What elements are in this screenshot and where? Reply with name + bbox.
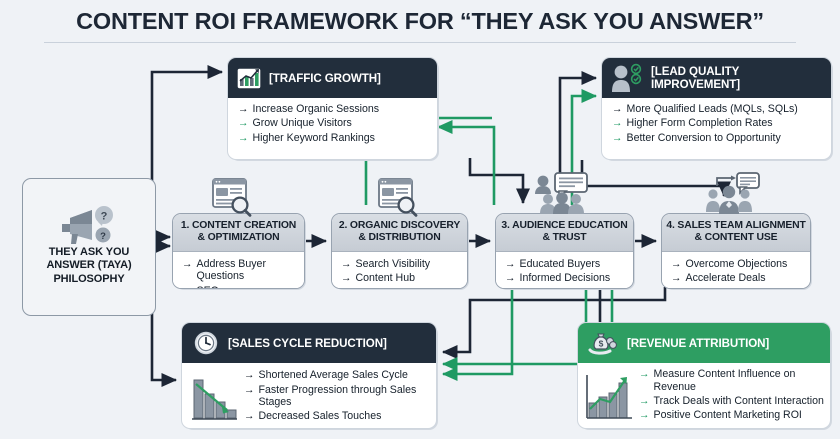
start-node-label: THEY ASK YOU ANSWER (TAYA) PHILOSOPHY — [27, 246, 151, 287]
arrow-icon: → — [639, 409, 650, 421]
bullet-text: Accelerate Deals — [686, 272, 766, 284]
bullet-text: Grow Unique Visitors — [253, 117, 352, 129]
process-step-2-bullets: → Search Visibility → Content Hub — [341, 258, 459, 285]
bullet-text: Shortened Average Sales Cycle — [259, 369, 408, 381]
arrow-icon: → — [612, 132, 623, 144]
list-item: → Content Hub — [341, 272, 459, 284]
bullet-text: Higher Keyword Rankings — [253, 132, 375, 144]
arrow-icon: → — [244, 384, 255, 396]
arrow-icon: → — [238, 103, 249, 115]
arrow-icon: → — [182, 285, 193, 289]
arrow-icon: → — [341, 272, 352, 284]
arrow-icon: → — [182, 258, 193, 270]
arrow-icon: → — [505, 258, 516, 270]
arrow-icon: → — [244, 369, 255, 381]
outcome-sales-cycle-reduction[interactable]: [SALES CYCLE REDUCTION] — [181, 322, 435, 427]
bullet-text: Content Hub — [356, 272, 415, 284]
list-item: → Grow Unique Visitors — [238, 117, 429, 129]
list-item: → Accelerate Deals — [671, 272, 802, 284]
outcome-revenue-attribution-bullets: → Measure Content Influence on Revenue →… — [639, 368, 824, 424]
list-item: → Informed Decisions — [505, 272, 625, 284]
arrow-icon: → — [238, 132, 249, 144]
bullet-text: Increase Organic Sessions — [253, 103, 380, 115]
process-step-4-title: 4. SALES TEAM ALIGNMENT & CONTENT USE — [662, 214, 810, 252]
bullet-text: Decreased Sales Touches — [259, 410, 382, 422]
list-item: → Decreased Sales Touches — [244, 410, 428, 422]
list-item: → Higher Form Completion Rates — [612, 117, 823, 129]
list-item: → Address Buyer Questions — [182, 258, 296, 283]
clock-icon — [194, 331, 218, 355]
audience-chat-icon — [533, 172, 595, 216]
bullet-text: Measure Content Influence on Revenue — [654, 368, 825, 393]
start-node-taya[interactable]: ? ? THEY ASK YOU ANSWER (TAYA) PHILOSOPH… — [22, 178, 146, 302]
svg-text:$: $ — [599, 339, 604, 349]
process-step-1-bullets: → Address Buyer Questions → SEO — [182, 258, 296, 289]
money-bag-hand-icon: $ — [588, 330, 618, 356]
rising-bar-chart-icon — [584, 367, 634, 425]
outcome-revenue-attribution-label: [REVENUE ATTRIBUTION] — [627, 337, 769, 350]
process-step-4[interactable]: 4. SALES TEAM ALIGNMENT & CONTENT USE → … — [661, 213, 809, 287]
bullet-text: Search Visibility — [356, 258, 431, 270]
svg-text:?: ? — [100, 231, 106, 242]
list-item: → Higher Keyword Rankings — [238, 132, 429, 144]
process-step-1[interactable]: 1. CONTENT CREATION & OPTIMIZATION → Add… — [172, 213, 303, 287]
list-item: → Educated Buyers — [505, 258, 625, 270]
outcome-traffic-growth-label: [TRAFFIC GROWTH] — [269, 72, 381, 85]
list-item: → Better Conversion to Opportunity — [612, 132, 823, 144]
outcome-revenue-attribution[interactable]: $ [REVENUE ATTRIBUTION] — [577, 322, 829, 427]
arrow-icon: → — [244, 410, 255, 422]
bar-chart-up-icon — [236, 66, 262, 90]
arrow-icon: → — [639, 395, 650, 407]
process-step-2[interactable]: 2. ORGANIC DISCOVERY & DISTRIBUTION → Se… — [331, 213, 466, 287]
process-step-1-title: 1. CONTENT CREATION & OPTIMIZATION — [173, 214, 304, 252]
process-step-2-title: 2. ORGANIC DISCOVERY & DISTRIBUTION — [332, 214, 467, 252]
document-search-icon — [211, 177, 253, 217]
outcome-sales-cycle-label: [SALES CYCLE REDUCTION] — [228, 337, 387, 350]
bullet-text: More Qualified Leads (MQLs, SQLs) — [627, 103, 798, 115]
bullet-text: Positive Content Marketing ROI — [654, 409, 802, 421]
sales-team-chat-icon — [703, 172, 765, 216]
list-item: → Positive Content Marketing ROI — [639, 409, 824, 421]
bullet-text: Higher Form Completion Rates — [627, 117, 773, 129]
list-item: → Shortened Average Sales Cycle — [244, 369, 428, 381]
process-step-3-title: 3. AUDIENCE EDUCATION & TRUST — [496, 214, 633, 252]
arrow-icon: → — [639, 368, 650, 380]
bullet-text: Educated Buyers — [520, 258, 601, 270]
diagram-canvas: CONTENT ROI FRAMEWORK FOR “THEY ASK YOU … — [0, 0, 840, 439]
list-item: → Overcome Objections — [671, 258, 802, 270]
list-item: → Measure Content Influence on Revenue — [639, 368, 824, 393]
bullet-text: Faster Progression through Sales Stages — [259, 384, 429, 409]
arrow-icon: → — [612, 103, 623, 115]
process-step-4-bullets: → Overcome Objections → Accelerate Deals — [671, 258, 802, 285]
bullet-text: SEO — [197, 285, 219, 289]
arrow-icon: → — [238, 117, 249, 129]
arrow-icon: → — [341, 258, 352, 270]
svg-text:?: ? — [101, 210, 108, 222]
outcome-traffic-growth-bullets: → Increase Organic Sessions → Grow Uniqu… — [238, 103, 429, 144]
bullet-text: Track Deals with Content Interaction — [654, 395, 824, 407]
outcome-lead-quality-improvement[interactable]: [LEAD QUALITY IMPROVEMENT] → More Qualif… — [601, 57, 830, 158]
arrow-icon: → — [505, 272, 516, 284]
declining-bar-chart-icon — [190, 368, 238, 426]
document-search-icon — [377, 177, 419, 217]
list-item: → Search Visibility — [341, 258, 459, 270]
person-checklist-icon — [610, 63, 644, 93]
bullet-text: Informed Decisions — [520, 272, 611, 284]
outcome-lead-quality-label: [LEAD QUALITY IMPROVEMENT] — [651, 65, 823, 91]
list-item: → Track Deals with Content Interaction — [639, 395, 824, 407]
megaphone-question-icon: ? ? — [58, 204, 120, 244]
process-step-3[interactable]: 3. AUDIENCE EDUCATION & TRUST → Educated… — [495, 213, 632, 287]
process-step-3-bullets: → Educated Buyers → Informed Decisions — [505, 258, 625, 285]
bullet-text: Overcome Objections — [686, 258, 788, 270]
outcome-sales-cycle-bullets: → Shortened Average Sales Cycle → Faster… — [244, 369, 428, 425]
list-item: → Faster Progression through Sales Stage… — [244, 384, 428, 409]
outcome-traffic-growth[interactable]: [TRAFFIC GROWTH] → Increase Organic Sess… — [227, 57, 436, 158]
arrow-icon: → — [612, 117, 623, 129]
list-item: → SEO — [182, 285, 296, 289]
bullet-text: Address Buyer Questions — [197, 258, 297, 283]
arrow-icon: → — [671, 272, 682, 284]
list-item: → More Qualified Leads (MQLs, SQLs) — [612, 103, 823, 115]
arrow-icon: → — [671, 258, 682, 270]
list-item: → Increase Organic Sessions — [238, 103, 429, 115]
bullet-text: Better Conversion to Opportunity — [627, 132, 781, 144]
outcome-lead-quality-bullets: → More Qualified Leads (MQLs, SQLs) → Hi… — [612, 103, 823, 144]
